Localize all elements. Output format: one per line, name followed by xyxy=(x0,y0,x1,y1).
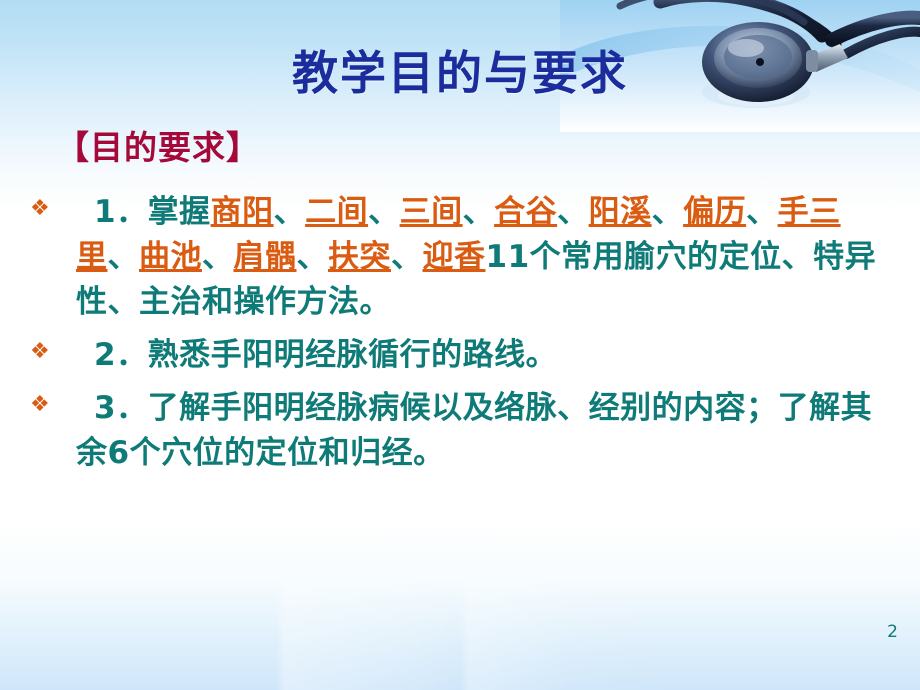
acupoint-name: 扶突 xyxy=(328,239,391,275)
list-separator: 、 xyxy=(557,194,589,230)
item-number: 2． xyxy=(94,337,148,373)
acupoint-name: 合谷 xyxy=(494,194,557,230)
objectives-list: ❖ 1．掌握商阳、二间、三间、合谷、阳溪、偏历、手三里、曲池、肩髃、扶突、迎香1… xyxy=(30,190,900,484)
acupoint-name: 商阳 xyxy=(211,194,274,230)
page-number: 2 xyxy=(887,622,898,642)
background-sheen xyxy=(0,580,920,690)
list-separator: 、 xyxy=(391,239,423,275)
list-separator: 、 xyxy=(297,239,329,275)
list-item: ❖ 2．熟悉手阳明经脉循行的路线。 xyxy=(30,333,900,378)
acupoint-name: 阳溪 xyxy=(589,194,652,230)
list-separator: 、 xyxy=(368,194,400,230)
acupoint-name: 肩髃 xyxy=(234,239,297,275)
list-separator: 、 xyxy=(652,194,684,230)
acupoint-name: 三间 xyxy=(400,194,463,230)
acupoint-name: 迎香 xyxy=(423,239,486,275)
list-separator: 、 xyxy=(463,194,495,230)
list-item: ❖ 1．掌握商阳、二间、三间、合谷、阳溪、偏历、手三里、曲池、肩髃、扶突、迎香1… xyxy=(30,190,900,325)
diamond-bullet-icon: ❖ xyxy=(30,386,76,416)
list-separator: 、 xyxy=(274,194,306,230)
diamond-bullet-icon: ❖ xyxy=(30,190,76,220)
acupoint-name: 曲池 xyxy=(139,239,202,275)
section-heading: 【目的要求】 xyxy=(56,129,260,167)
item-body: 了解手阳明经脉病候以及络脉、经别的内容；了解其余6个穴位的定位和归经。 xyxy=(76,390,872,471)
list-item: ❖ 3．了解手阳明经脉病候以及络脉、经别的内容；了解其余6个穴位的定位和归经。 xyxy=(30,386,900,476)
item-lead: 掌握 xyxy=(148,194,211,230)
acupoint-name: 二间 xyxy=(305,194,368,230)
item-number: 3． xyxy=(94,390,148,426)
list-separator: 、 xyxy=(746,194,778,230)
list-item-text: 1．掌握商阳、二间、三间、合谷、阳溪、偏历、手三里、曲池、肩髃、扶突、迎香11个… xyxy=(76,190,900,325)
page-title: 教学目的与要求 xyxy=(0,48,920,99)
slide: 教学目的与要求 【目的要求】 ❖ 1．掌握商阳、二间、三间、合谷、阳溪、偏历、手… xyxy=(0,0,920,690)
item-number: 1． xyxy=(94,194,148,230)
diamond-bullet-icon: ❖ xyxy=(30,333,76,363)
item-body: 熟悉手阳明经脉循行的路线。 xyxy=(148,337,558,373)
list-item-text: 3．了解手阳明经脉病候以及络脉、经别的内容；了解其余6个穴位的定位和归经。 xyxy=(76,386,900,476)
list-separator: 、 xyxy=(108,239,140,275)
list-separator: 、 xyxy=(202,239,234,275)
acupoint-name: 偏历 xyxy=(683,194,746,230)
list-item-text: 2．熟悉手阳明经脉循行的路线。 xyxy=(76,333,900,378)
